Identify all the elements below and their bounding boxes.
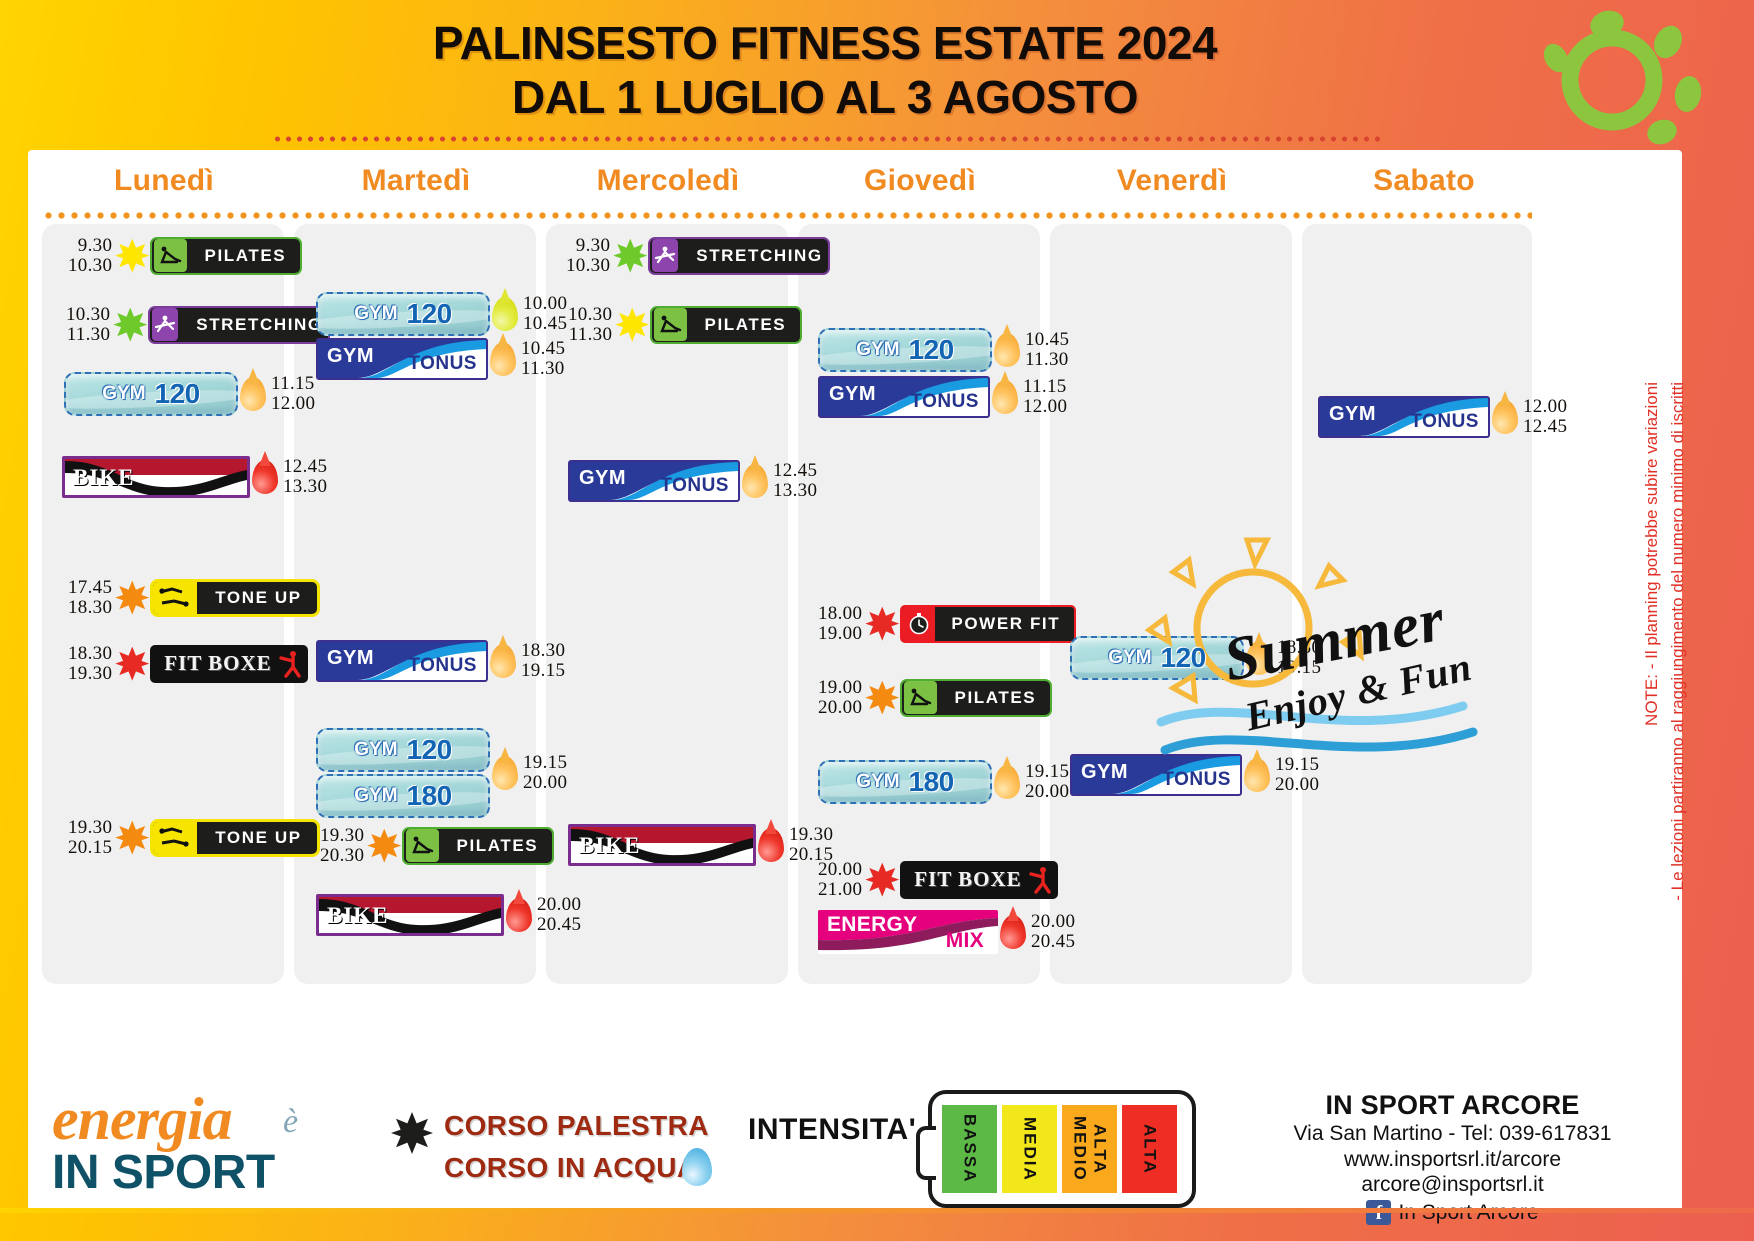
gym-label: GYM <box>1329 403 1376 426</box>
tonus-label: TONUS <box>408 353 477 375</box>
badge-gym-tonus[interactable]: GYM TONUS <box>568 460 740 502</box>
class-entry-lunedi-3[interactable]: BIKE 12.45 13.30 <box>62 456 327 498</box>
class-entry-giovedi-4[interactable]: GYM 180 19.15 20.00 <box>818 760 1069 804</box>
time-range: 9.30 10.30 <box>68 236 112 275</box>
gym-minutes: 120 <box>909 334 954 366</box>
badge-gym-120[interactable]: GYM 120 <box>64 372 238 416</box>
gym-label: GYM <box>354 785 397 807</box>
legend-corso-palestra: CORSO PALESTRA <box>444 1110 709 1142</box>
badge-stretching[interactable]: STRETCHING <box>148 306 330 344</box>
day-header-martedi: Martedì <box>294 164 538 206</box>
brand-e-logo: è <box>283 1103 298 1141</box>
time-range: 17.45 18.30 <box>68 578 112 617</box>
kickboxer-icon <box>1024 863 1055 897</box>
badge-bike[interactable]: BIKE <box>316 894 504 936</box>
time-range: 9.30 10.30 <box>566 236 610 275</box>
star-orange-icon <box>115 821 149 855</box>
time-range: 12.45 13.30 <box>773 461 817 500</box>
time-range: 10.45 11.30 <box>521 339 565 378</box>
gym-label: GYM <box>327 345 374 368</box>
poster-background: PALINSESTO FITNESS ESTATE 2024 DAL 1 LUG… <box>0 0 1754 1241</box>
tone-up-figure-icon <box>153 581 197 615</box>
badge-gym-tonus[interactable]: GYM TONUS <box>1318 396 1490 438</box>
note-line-2: - Le lezioni partiranno al raggiungiment… <box>1668 382 1688 901</box>
class-entry-martedi-2[interactable]: GYM TONUS 18.30 19.15 <box>316 640 565 682</box>
tonus-label: TONUS <box>1410 411 1479 433</box>
leaf-logo-icon <box>1494 8 1724 148</box>
water-drop-red-icon <box>758 828 784 862</box>
gym-minutes: 120 <box>407 298 452 330</box>
day-dotted-rule <box>42 212 1532 219</box>
class-entry-martedi-4[interactable]: 19.30 20.30 PILATES <box>320 826 554 865</box>
class-entry-lunedi-4[interactable]: 17.45 18.30 TONE UP <box>68 578 320 617</box>
title-line-2: DAL 1 LUGLIO AL 3 AGOSTO <box>270 70 1380 124</box>
gym-label: GYM <box>354 739 397 761</box>
gym-label: GYM <box>102 383 145 405</box>
day-header-venerdi: Venerdì <box>1050 164 1294 206</box>
gym-label: GYM <box>327 647 374 670</box>
badge-label: FIT BOXE <box>150 651 273 676</box>
badge-pilates[interactable]: PILATES <box>402 827 554 865</box>
gym-minutes: 180 <box>909 766 954 798</box>
stretching-figure-icon <box>652 239 678 272</box>
star-orange-icon <box>865 681 899 715</box>
pilates-figure-icon <box>154 239 186 272</box>
water-drop-orange-icon <box>992 380 1018 414</box>
water-drop-red-icon <box>1000 915 1026 949</box>
badge-label: BIKE <box>73 465 135 491</box>
poster-header: PALINSESTO FITNESS ESTATE 2024 DAL 1 LUG… <box>0 0 1754 150</box>
time-range: 20.00 20.45 <box>1031 912 1075 951</box>
time-range: 19.15 20.00 <box>523 753 567 792</box>
class-entry-giovedi-6[interactable]: ENERGY MIX 20.00 20.45 <box>818 910 1075 954</box>
gym-minutes: 180 <box>407 780 452 812</box>
badge-gym-120[interactable]: GYM 120 <box>316 292 490 336</box>
star-red-icon <box>865 863 899 897</box>
badge-label: TONE UP <box>201 588 315 608</box>
battery-cell-media: MEDIA <box>1002 1105 1057 1193</box>
star-orange-icon <box>367 829 401 863</box>
class-entry-mercoledi-2[interactable]: GYM TONUS 12.45 13.30 <box>568 460 817 502</box>
water-drop-orange-icon <box>742 464 768 498</box>
gym-label: GYM <box>354 303 397 325</box>
intensity-label: INTENSITA' <box>748 1113 916 1147</box>
badge-label: STRETCHING <box>182 315 330 335</box>
time-range: 18.30 19.15 <box>521 641 565 680</box>
time-range: 11.15 12.00 <box>271 374 315 413</box>
badge-label: STRETCHING <box>682 246 830 266</box>
battery-cell-bassa: BASSA <box>942 1105 997 1193</box>
badge-pilates[interactable]: PILATES <box>150 237 302 275</box>
badge-bike[interactable]: BIKE <box>568 824 756 866</box>
class-entry-sabato-0[interactable]: GYM TONUS 12.00 12.45 <box>1318 396 1567 438</box>
time-range: 19.15 20.00 <box>1025 762 1069 801</box>
class-entry-lunedi-1[interactable]: 10.30 11.30 STRETCHING <box>66 305 330 344</box>
day-header-mercoledi: Mercoledì <box>546 164 790 206</box>
badge-pilates[interactable]: PILATES <box>900 679 1052 717</box>
gym-label: GYM <box>1108 647 1151 669</box>
star-green-icon <box>613 239 647 273</box>
badge-tone-up[interactable]: TONE UP <box>150 579 320 617</box>
time-range: 12.45 13.30 <box>283 457 327 496</box>
gym-minutes: 120 <box>1161 642 1206 674</box>
badge-stretching[interactable]: STRETCHING <box>648 237 830 275</box>
badge-label: BIKE <box>327 903 389 929</box>
contact-website[interactable]: www.insportsrl.it/arcore <box>1255 1147 1650 1173</box>
badge-gym-180[interactable]: GYM 180 <box>818 760 992 804</box>
time-range: 10.45 11.30 <box>1025 330 1069 369</box>
time-range: 19.30 20.30 <box>320 826 364 865</box>
badge-label: TONE UP <box>201 828 315 848</box>
contact-address: Via San Martino - Tel: 039-617831 <box>1255 1121 1650 1147</box>
page-title: PALINSESTO FITNESS ESTATE 2024 DAL 1 LUG… <box>270 16 1380 125</box>
class-entry-mercoledi-0[interactable]: 9.30 10.30 STRETCHING <box>566 236 830 275</box>
time-range: 18.00 19.00 <box>818 604 862 643</box>
time-range: 10.00 10.45 <box>523 294 567 333</box>
class-entry-lunedi-0[interactable]: 9.30 10.30 PILATES <box>68 236 302 275</box>
day-header-sabato: Sabato <box>1302 164 1546 206</box>
badge-label: POWER FIT <box>937 614 1074 634</box>
gym-label: GYM <box>1081 761 1128 784</box>
stopwatch-icon <box>902 607 935 641</box>
pilates-figure-icon <box>904 681 936 714</box>
class-entry-giovedi-3[interactable]: 19.00 20.00 PILATES <box>818 678 1052 717</box>
title-dotted-rule <box>272 136 1382 142</box>
time-range: 10.30 11.30 <box>66 305 110 344</box>
contact-title: IN SPORT ARCORE <box>1255 1090 1650 1121</box>
badge-label: BIKE <box>579 833 641 859</box>
title-line-1: PALINSESTO FITNESS ESTATE 2024 <box>433 17 1217 69</box>
class-entry-giovedi-2[interactable]: 18.00 19.00 POWER FIT <box>818 604 1076 643</box>
gym-label: GYM <box>856 339 899 361</box>
contact-email[interactable]: arcore@insportsrl.it <box>1255 1172 1650 1198</box>
time-range: 19.00 20.00 <box>818 678 862 717</box>
time-range: 18.30 19.30 <box>68 644 112 683</box>
tonus-label: TONUS <box>660 475 729 497</box>
badge-gym-120[interactable]: GYM 120 <box>316 728 490 772</box>
water-drop-orange-icon <box>490 644 516 678</box>
badge-fit-boxe[interactable]: FIT BOXE <box>150 645 308 683</box>
gym-label: GYM <box>829 383 876 406</box>
star-red-icon <box>115 647 149 681</box>
class-entry-giovedi-0[interactable]: GYM 120 10.45 11.30 <box>818 328 1069 372</box>
bottom-rule <box>0 1208 1754 1213</box>
water-drop-orange-icon <box>490 342 516 376</box>
badge-bike[interactable]: BIKE <box>62 456 250 498</box>
note-line-1: NOTE: - Il planning potrebbe subire vari… <box>1642 382 1662 726</box>
badge-label: FIT BOXE <box>900 867 1023 892</box>
stretching-figure-icon <box>152 308 178 341</box>
class-entry-martedi-0[interactable]: GYM 120 10.00 10.45 <box>316 292 567 336</box>
mix-label: MIX <box>946 929 984 953</box>
water-drop-red-icon <box>252 460 278 494</box>
badge-gym-tonus[interactable]: GYM TONUS <box>316 640 488 682</box>
time-range: 12.00 12.45 <box>1523 397 1567 436</box>
badge-gym-tonus[interactable]: GYM TONUS <box>316 338 488 380</box>
time-range: 20.00 21.00 <box>818 860 862 899</box>
badge-label: PILATES <box>691 315 801 335</box>
gym-minutes: 120 <box>407 734 452 766</box>
time-range: 11.15 12.00 <box>1023 377 1067 416</box>
intensity-battery: BASSA MEDIA MEDIO ALTA ALTA <box>928 1090 1196 1208</box>
class-entry-martedi-5[interactable]: BIKE 20.00 20.45 <box>316 894 581 936</box>
gym-minutes: 120 <box>155 378 200 410</box>
battery-cell-alta: ALTA <box>1122 1105 1177 1193</box>
class-entry-lunedi-5[interactable]: 18.30 19.30 FIT BOXE <box>68 644 308 683</box>
water-drop-red-icon <box>506 898 532 932</box>
star-green-icon <box>113 308 147 342</box>
water-drop-legend-icon <box>680 1148 714 1186</box>
water-drop-orange-icon <box>240 377 266 411</box>
star-orange-icon <box>115 581 149 615</box>
tonus-label: TONUS <box>408 655 477 677</box>
water-drop-lime-icon <box>492 297 518 331</box>
class-entry-mercoledi-1[interactable]: 10.30 11.30 PILATES <box>568 305 802 344</box>
star-yellow-icon <box>615 308 649 342</box>
contact-block: IN SPORT ARCORE Via San Martino - Tel: 0… <box>1255 1090 1650 1225</box>
battery-cell-medio-alta: MEDIO ALTA <box>1062 1105 1117 1193</box>
badge-label: PILATES <box>443 836 553 856</box>
water-drop-orange-icon <box>1492 400 1518 434</box>
water-drop-orange-icon <box>492 756 518 790</box>
class-entry-lunedi-2[interactable]: GYM 120 11.15 12.00 <box>64 372 315 416</box>
badge-gym-120[interactable]: GYM 120 <box>818 328 992 372</box>
class-entry-giovedi-1[interactable]: GYM TONUS 11.15 12.00 <box>818 376 1067 418</box>
badge-label: PILATES <box>941 688 1051 708</box>
class-entry-mercoledi-3[interactable]: BIKE 19.30 20.15 <box>568 824 833 866</box>
tonus-label: TONUS <box>1162 769 1231 791</box>
pilates-figure-icon <box>406 829 438 862</box>
gym-stack: GYM 120 GYM 180 <box>316 728 490 818</box>
badge-gym-tonus[interactable]: GYM TONUS <box>818 376 990 418</box>
pilates-figure-icon <box>654 308 686 341</box>
badge-fit-boxe[interactable]: FIT BOXE <box>900 861 1058 899</box>
schedule-panel: Lunedì Martedì Mercoledì Giovedì Venerdì… <box>28 150 1682 1212</box>
star-yellow-icon <box>115 239 149 273</box>
day-header-lunedi: Lunedì <box>42 164 286 206</box>
star-legend-icon <box>390 1112 432 1154</box>
badge-power-fit[interactable]: POWER FIT <box>900 605 1076 643</box>
badge-pilates[interactable]: PILATES <box>650 306 802 344</box>
class-entry-martedi-1[interactable]: GYM TONUS 10.45 11.30 <box>316 338 565 380</box>
day-header-giovedi: Giovedì <box>798 164 1042 206</box>
gym-label: GYM <box>856 771 899 793</box>
legend-corso-in-acqua: CORSO IN ACQUA <box>444 1152 697 1184</box>
tonus-label: TONUS <box>910 391 979 413</box>
water-drop-orange-icon <box>994 333 1020 367</box>
badge-energy-mix[interactable]: ENERGY MIX <box>818 910 998 954</box>
badge-tone-up[interactable]: TONE UP <box>150 819 320 857</box>
class-entry-martedi-3[interactable]: GYM 120 GYM 180 19.15 20.00 <box>316 728 567 818</box>
badge-label: PILATES <box>191 246 301 266</box>
star-red-icon <box>865 607 899 641</box>
brand-insport-logo: IN SPORT <box>52 1145 275 1200</box>
time-range: 19.30 20.15 <box>68 818 112 857</box>
class-entry-giovedi-5[interactable]: 20.00 21.00 FIT BOXE <box>818 860 1058 899</box>
kickboxer-icon <box>274 647 305 681</box>
energy-label: ENERGY <box>827 913 918 937</box>
tone-up-figure-icon <box>153 821 197 855</box>
water-drop-orange-icon <box>994 765 1020 799</box>
badge-gym-tonus[interactable]: GYM TONUS <box>1070 754 1242 796</box>
badge-gym-180[interactable]: GYM 180 <box>316 774 490 818</box>
class-entry-lunedi-6[interactable]: 19.30 20.15 TONE UP <box>68 818 320 857</box>
time-range: 10.30 11.30 <box>568 305 612 344</box>
time-range: 20.00 20.45 <box>537 895 581 934</box>
brand-script-logo: energia <box>52 1085 232 1154</box>
gym-label: GYM <box>579 467 626 490</box>
